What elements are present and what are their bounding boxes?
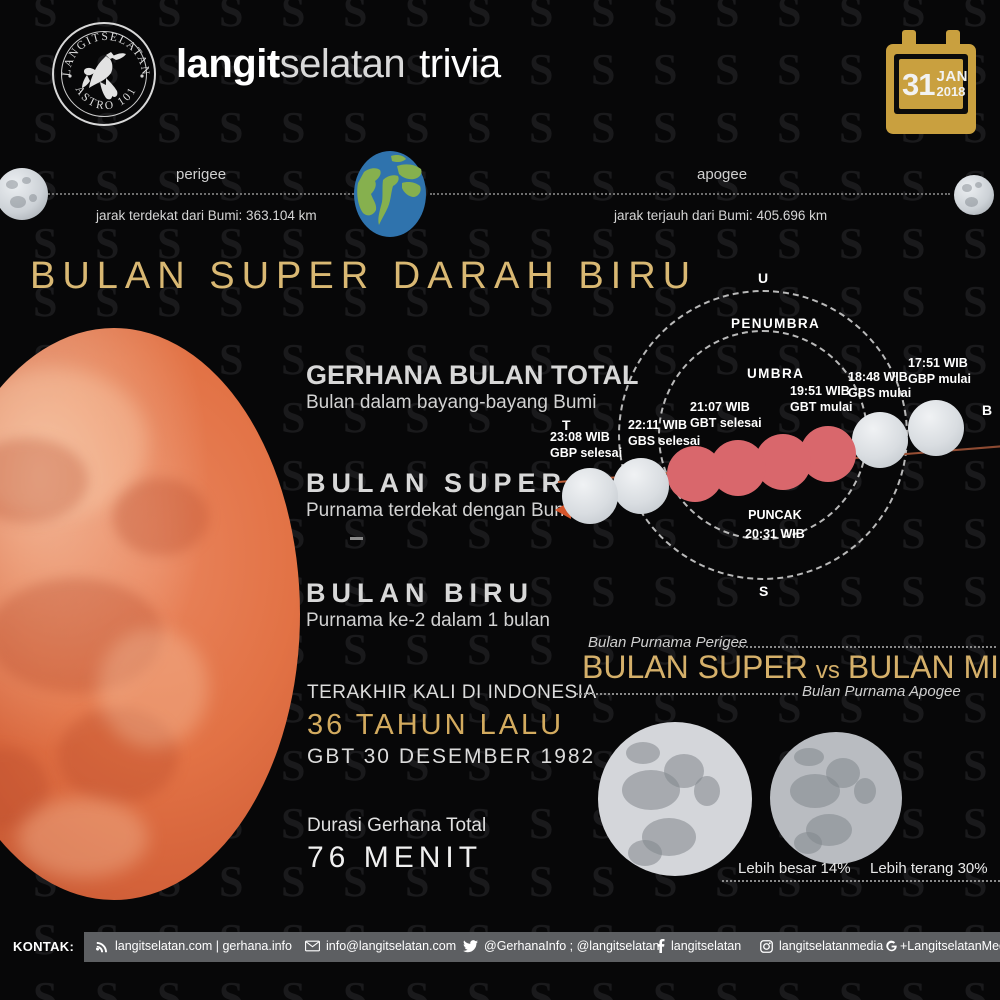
eclipse-phase-tag: 21:07 WIB GBT selesai [690, 400, 762, 431]
eclipse-path-diagram: PENUMBRA UMBRA U S T B 23:08 WIB GBP sel… [550, 278, 1000, 618]
footer-contact-bar: KONTAK: langitselatan.com | gerhana.info… [0, 932, 1000, 962]
eclipse-phase-tag: 19:51 WIB GBT mulai [790, 384, 853, 415]
rss-icon [96, 940, 109, 953]
peak-time: 20:31 WIB [745, 525, 805, 544]
duration-label: Durasi Gerhana Total [307, 815, 597, 837]
footer-item-label: +LangitselatanMedia [900, 939, 1000, 953]
calendar-year: 2018 [936, 85, 968, 99]
brand-trivia: trivia [419, 42, 500, 86]
brand-wordmark: langitselatantrivia [176, 42, 501, 87]
previous-event: GBT 30 DESEMBER 1982 [307, 745, 597, 769]
mini-moon-icon [770, 732, 902, 864]
super-moon-icon [598, 722, 752, 876]
calendar-icon: 31 JAN 2018 [886, 30, 976, 134]
orbit-line-right [430, 193, 950, 195]
footer-item-instagram[interactable]: langitselatanmedia [760, 939, 883, 953]
phase-time: 19:51 WIB [790, 384, 853, 400]
calendar-month: JAN [936, 69, 968, 85]
perigee-label: perigee [176, 166, 226, 183]
years-ago-value: 36 TAHUN LALU [307, 709, 597, 742]
brand-selatan: selatan [280, 42, 405, 86]
svm-title-vs: vs [816, 657, 840, 684]
last-occurrence-label: TERAKHIR KALI DI INDONESIA [307, 682, 597, 704]
eclipse-moon-2 [613, 458, 669, 514]
phase-event: GBS selesai [628, 434, 700, 450]
peak-title: PUNCAK [745, 506, 805, 525]
eclipse-phase-tag: 23:08 WIB GBP selesai [550, 430, 622, 461]
perigee-moon-icon [0, 168, 48, 220]
phase-event: GBP mulai [908, 372, 971, 388]
svm-title-left: BULAN SUPER [582, 649, 808, 685]
svm-footer-rule [722, 880, 1000, 882]
instagram-icon [760, 940, 773, 953]
eclipse-moon-6 [908, 400, 964, 456]
compass-south: S [759, 583, 768, 599]
phase-event: GBT mulai [790, 400, 853, 416]
svm-title-right: BULAN MINI [848, 649, 1000, 685]
phase-event: GBT selesai [690, 416, 762, 432]
footer-item-label: langitselatanmedia [779, 939, 883, 953]
apogee-moon-icon [954, 175, 994, 215]
header: LANGITSELATAN ASTRO 101 langitsel [0, 0, 1000, 148]
footer-item-label: info@langitselatan.com [326, 939, 456, 953]
calendar-month-year: JAN 2018 [936, 69, 968, 98]
penumbra-label: PENUMBRA [731, 316, 820, 331]
footer-item-facebook[interactable]: langitselatan [656, 939, 741, 953]
svm-title: BULAN SUPERvsBULAN MINI [582, 649, 1000, 686]
footer-item-label: langitselatan.com | gerhana.info [115, 939, 292, 953]
footer-item-twitter[interactable]: @GerhanaInfo ; @langitselatan [463, 939, 659, 953]
phase-time: 23:08 WIB [550, 430, 622, 446]
kontak-label: KONTAK: [13, 939, 74, 954]
footer-item-email[interactable]: info@langitselatan.com [305, 939, 456, 953]
compass-east: B [982, 402, 992, 418]
perigee-apogee-band: perigee apogee jarak terdekat dari Bumi:… [0, 150, 1000, 245]
eclipse-moon-1 [562, 468, 618, 524]
umbra-label: UMBRA [747, 366, 804, 381]
footer-item-website[interactable]: langitselatan.com | gerhana.info [96, 939, 292, 953]
twitter-icon [463, 940, 478, 953]
duration-value: 76 MENIT [307, 841, 597, 875]
langitselatan-logo: LANGITSELATAN ASTRO 101 [52, 22, 156, 126]
super-vs-mini-section: Bulan Purnama Perigee BULAN SUPERvsBULAN… [570, 632, 1000, 894]
stats-block: TERAKHIR KALI DI INDONESIA 36 TAHUN LALU… [307, 682, 597, 875]
envelope-icon [305, 940, 320, 952]
infographic-page: SSSSSSSSSSSSSSSSSSSSSSSSSSSSSSSSSSSSSSSS… [0, 0, 1000, 1000]
eclipse-moon-5 [852, 412, 908, 468]
brightness-stat: Lebih terang 30% [870, 860, 988, 877]
compass-north: U [758, 270, 768, 286]
phase-event: GBS mulai [848, 386, 911, 402]
feature-divider-dash [350, 537, 363, 540]
calendar-day: 31 [902, 69, 934, 100]
blood-moon-image [0, 328, 300, 900]
footer-item-label: langitselatan [671, 939, 741, 953]
facebook-icon [656, 939, 665, 953]
calendar-date-plate: 31 JAN 2018 [899, 59, 963, 109]
calendar-body: 31 JAN 2018 [886, 44, 976, 134]
orbit-line-left [44, 193, 354, 195]
calendar-screen: 31 JAN 2018 [894, 54, 968, 114]
eclipse-phase-tag: 17:51 WIB GBP mulai [908, 356, 971, 387]
logo-centaur-icon: LANGITSELATAN ASTRO 101 [54, 24, 158, 128]
perigee-distance: jarak terdekat dari Bumi: 363.104 km [96, 208, 317, 223]
footer-item-googleplus[interactable]: +LangitselatanMedia [885, 939, 1000, 953]
phase-time: 21:07 WIB [690, 400, 762, 416]
apogee-full-moon-label: Bulan Purnama Apogee [802, 683, 961, 700]
eclipse-phase-tag: 18:48 WIB GBS mulai [848, 370, 911, 401]
svm-bottom-rule [576, 693, 798, 695]
eclipse-peak-label: PUNCAK 20:31 WIB [745, 506, 805, 544]
brand-langit: langit [176, 42, 280, 86]
apogee-distance: jarak terjauh dari Bumi: 405.696 km [614, 208, 827, 223]
footer-item-label: @GerhanaInfo ; @langitselatan [484, 939, 659, 953]
size-stat: Lebih besar 14% [738, 860, 851, 877]
apogee-label: apogee [697, 166, 747, 183]
phase-event: GBP selesai [550, 446, 622, 462]
phase-time: 18:48 WIB [848, 370, 911, 386]
phase-time: 17:51 WIB [908, 356, 971, 372]
svm-top-rule [738, 646, 996, 648]
google-plus-icon [885, 940, 899, 953]
eclipse-moon-3 [667, 446, 723, 502]
